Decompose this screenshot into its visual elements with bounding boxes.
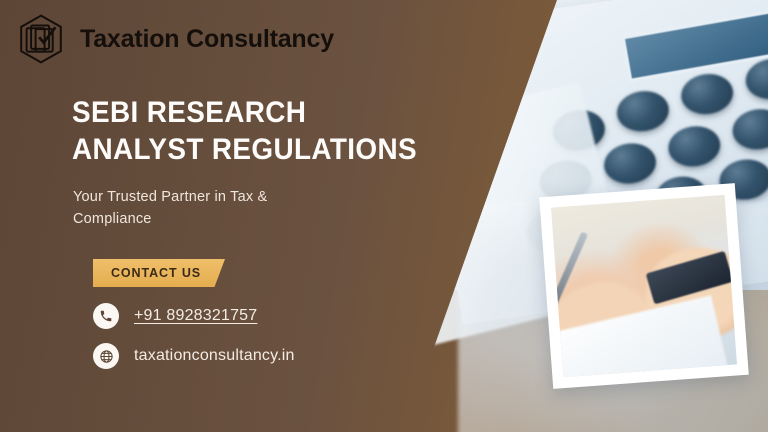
contact-phone[interactable]: +91 8928321757 [93, 303, 257, 329]
page-title: SEBI RESEARCH ANALYST REGULATIONS [72, 95, 444, 168]
phone-icon [93, 303, 119, 329]
promo-banner: Taxation Consultancy SEBI RESEARCH ANALY… [0, 0, 768, 432]
contact-us-button[interactable]: CONTACT US [93, 259, 225, 287]
globe-icon [93, 343, 119, 369]
hexagon-document-check-icon [14, 12, 68, 66]
contact-website[interactable]: taxationconsultancy.in [93, 343, 295, 369]
brand-name: Taxation Consultancy [80, 25, 334, 54]
phone-number[interactable]: +91 8928321757 [134, 307, 257, 325]
hero-subtitle: Your Trusted Partner in Tax & Compliance [73, 186, 323, 231]
website-url[interactable]: taxationconsultancy.in [134, 347, 295, 365]
calculator-screen [622, 5, 768, 82]
hands-writing-photo [551, 195, 737, 377]
inset-photo-frame [539, 183, 749, 389]
brand-logo[interactable]: Taxation Consultancy [14, 12, 334, 66]
